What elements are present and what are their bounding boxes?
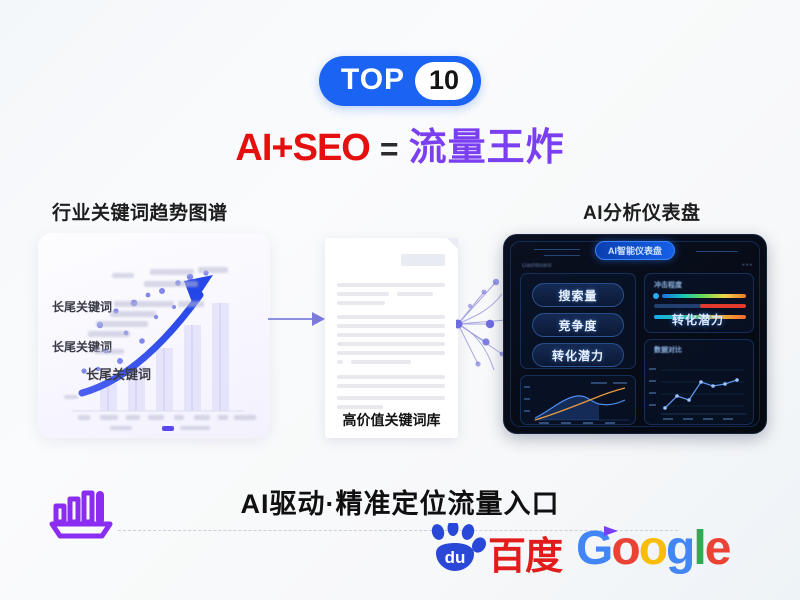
fuzzy-text [114, 301, 174, 307]
axis-tick [218, 415, 228, 420]
ai-dashboard-panel: AI智能仪表盘 Dashboard • • • 搜索量 竞争度 转化潜力 冲击 [503, 234, 767, 434]
fuzzy-text [144, 281, 198, 287]
headline-left: AI+SEO [235, 127, 369, 169]
doc-line [337, 301, 385, 305]
axis-tick [100, 415, 118, 420]
fuzzy-text [178, 301, 204, 307]
metric-pill-competition[interactable]: 竞争度 [532, 313, 624, 337]
top-badge: TOP 10 [319, 56, 481, 106]
gradient-bar-2b [700, 304, 746, 308]
dashboard-title-badge: AI智能仪表盘 [595, 241, 675, 260]
legend-label [180, 426, 210, 430]
keyword-library-document: 高价值关键词库 [325, 238, 458, 438]
doc-line [337, 351, 445, 355]
section-title-right: AI分析仪表盘 [583, 198, 701, 225]
axis-tick [234, 415, 256, 420]
metric-pill-search-volume[interactable]: 搜索量 [532, 283, 624, 307]
keyword-label-3: 长尾关键词 [86, 364, 151, 383]
axis-tick [126, 415, 140, 420]
doc-fold-corner [447, 238, 458, 249]
top-badge-container: TOP 10 [0, 56, 800, 106]
doc-line [397, 292, 433, 296]
baidu-wordmark: du [445, 548, 466, 567]
google-letter-g2: g [666, 525, 693, 573]
brand-logos: du 百度 G o o g l e [424, 523, 729, 575]
page-title: AI+SEO=流量王炸 [0, 128, 800, 170]
axis-tick [78, 415, 90, 420]
doc-line [337, 360, 343, 364]
doc-header-block [401, 254, 445, 266]
axis-tick [194, 415, 210, 420]
keyword-label-1: 长尾关键词 [52, 298, 112, 315]
doc-line [337, 283, 445, 287]
fuzzy-text [88, 331, 130, 337]
headline-right: 流量王炸 [409, 127, 565, 169]
doc-line [337, 396, 445, 400]
flow-arrow-icon [600, 524, 622, 538]
fuzzy-text [110, 311, 156, 317]
decor-tick [534, 249, 581, 250]
baidu-cn-text: 百度 [488, 539, 562, 575]
doc-line [337, 292, 389, 296]
google-letter-o2: o [639, 525, 666, 573]
top-badge-number: 10 [415, 62, 473, 100]
decor-tick [696, 251, 739, 252]
fuzzy-text [150, 269, 194, 275]
doc-line [337, 342, 445, 346]
axis-caption [110, 426, 132, 430]
doc-line [337, 384, 445, 388]
connector-arrow-1 [268, 308, 326, 330]
baidu-logo: du 百度 [424, 523, 562, 575]
metric-pill-conversion[interactable]: 转化潜力 [532, 343, 624, 367]
fuzzy-text [96, 321, 148, 327]
document-label: 高价值关键词库 [325, 410, 458, 430]
doc-line [351, 360, 411, 364]
google-letter-l: l [693, 525, 704, 573]
doc-line [337, 324, 445, 328]
doc-line [337, 333, 445, 337]
comparison-panel-title: 数据对比 [654, 345, 682, 355]
dashboard-sub-label: Dashboard [522, 263, 551, 269]
impact-panel-title: 冲击程度 [654, 280, 682, 290]
impact-overlay-label: 转化潜力 [672, 311, 724, 328]
baidu-paw-icon: du [424, 523, 486, 575]
doc-line [337, 375, 445, 379]
trend-area-panel [520, 375, 636, 425]
gradient-bar-dot [653, 293, 659, 299]
axis-tick [64, 395, 78, 399]
headline-equals: = [380, 131, 399, 167]
fuzzy-text [112, 273, 134, 278]
gradient-bar-1 [662, 294, 746, 298]
footer-tagline: AI驱动·精准定位流量入口 [0, 482, 800, 521]
legend-swatch [162, 426, 174, 431]
bar-chart-pedestal-icon [44, 486, 118, 542]
top-badge-label: TOP [341, 65, 405, 97]
keyword-trend-chart-card: 长尾关键词 长尾关键词 长尾关键词 [38, 233, 270, 438]
doc-line [337, 315, 445, 319]
trend-chart-svg [38, 233, 270, 438]
fuzzy-text [198, 267, 228, 273]
fuzzy-text [94, 349, 124, 354]
doc-line [337, 405, 383, 409]
axis-tick [148, 415, 164, 420]
google-letter-e: e [705, 525, 730, 573]
section-title-left: 行业关键词趋势图谱 [52, 198, 228, 225]
decor-tick [544, 255, 581, 256]
axis-tick [174, 415, 184, 420]
area-chart-svg [521, 376, 637, 426]
